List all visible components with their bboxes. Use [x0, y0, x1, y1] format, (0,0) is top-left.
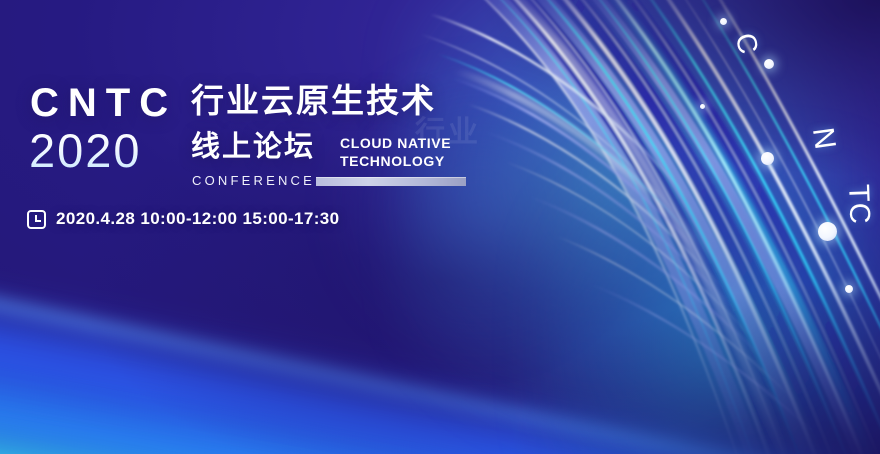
headline-english-line1: CLOUD NATIVE [340, 134, 451, 152]
conference-label: CONFERENCE [192, 173, 315, 188]
headline-chinese-sub: 线上论坛 [191, 132, 315, 161]
schedule-text: 2020.4.28 10:00-12:00 15:00-17:30 [56, 209, 340, 229]
cntc-2020-banner: CNTC CNTC 2020 行业 行业云原生技术 线上论坛 CLOUD NAT… [0, 0, 880, 454]
banner-content: CNTC 2020 行业 行业云原生技术 线上论坛 CLOUD NATIVE T… [0, 0, 880, 454]
divider-bar [316, 177, 466, 186]
clock-icon [27, 210, 46, 229]
logo-year: 2020 [29, 127, 142, 174]
headline-chinese-main: 行业云原生技术 [191, 84, 436, 117]
headline-english-line2: TECHNOLOGY [340, 152, 451, 170]
headline-english: CLOUD NATIVE TECHNOLOGY [340, 134, 451, 171]
schedule-row: 2020.4.28 10:00-12:00 15:00-17:30 [27, 209, 340, 229]
logo-acronym: CNTC [30, 83, 177, 123]
